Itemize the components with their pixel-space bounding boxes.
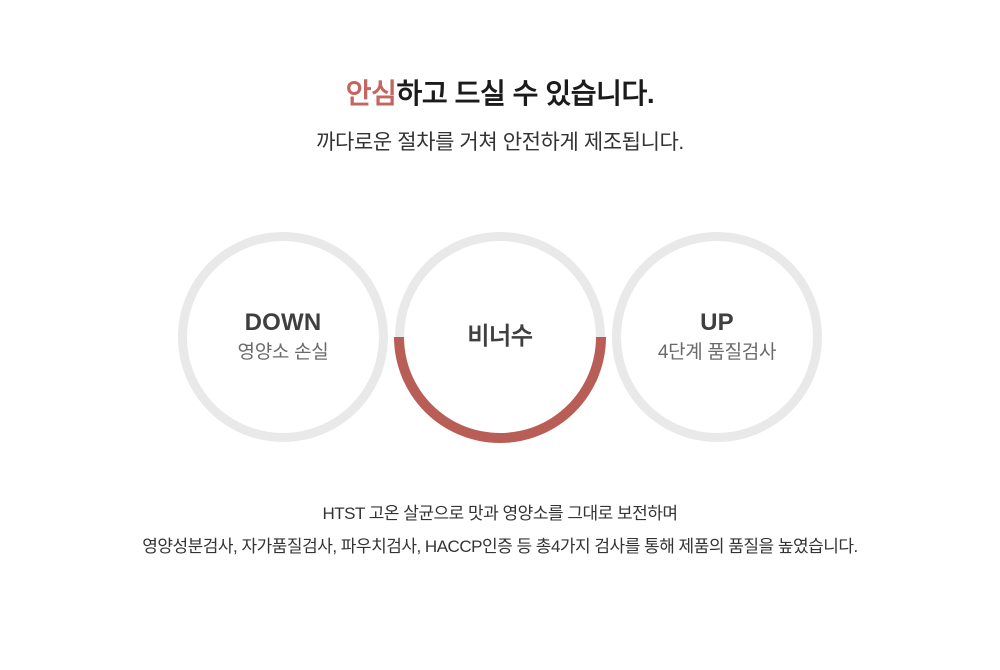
circle-item-up: UP 4단계 품질검사: [612, 232, 822, 442]
circle-subtitle-down: 영양소 손실: [238, 338, 329, 366]
footnote-line-2: 영양성분검사, 자가품질검사, 파우치검사, HACCP인증 등 총4가지 검사…: [0, 530, 1000, 563]
promo-section: 안심하고 드실 수 있습니다. 까다로운 절차를 거쳐 안전하게 제조됩니다. …: [0, 0, 1000, 670]
circle-subtitle-up: 4단계 품질검사: [658, 338, 776, 366]
circle-title-product: 비너수: [467, 322, 532, 352]
page-title-accent: 안심: [346, 78, 397, 109]
circle-item-product: 비너수: [395, 232, 605, 442]
footnote-block: HTST 고온 살균으로 맛과 영양소를 그대로 보전하며 영양성분검사, 자가…: [0, 497, 1000, 563]
circle-item-down: DOWN 영양소 손실: [178, 232, 388, 442]
page-title: 안심하고 드실 수 있습니다.: [0, 74, 1000, 114]
page-title-rest: 하고 드실 수 있습니다.: [396, 78, 654, 109]
circle-title-up: UP: [700, 308, 734, 338]
circle-diagram: DOWN 영양소 손실 비너수 UP 4단계 품질검사: [0, 232, 1000, 444]
circle-title-down: DOWN: [245, 308, 322, 338]
page-subtitle: 까다로운 절차를 거쳐 안전하게 제조됩니다.: [0, 114, 1000, 157]
footnote-line-1: HTST 고온 살균으로 맛과 영양소를 그대로 보전하며: [0, 497, 1000, 530]
heading-block: 안심하고 드실 수 있습니다. 까다로운 절차를 거쳐 안전하게 제조됩니다.: [0, 74, 1000, 157]
